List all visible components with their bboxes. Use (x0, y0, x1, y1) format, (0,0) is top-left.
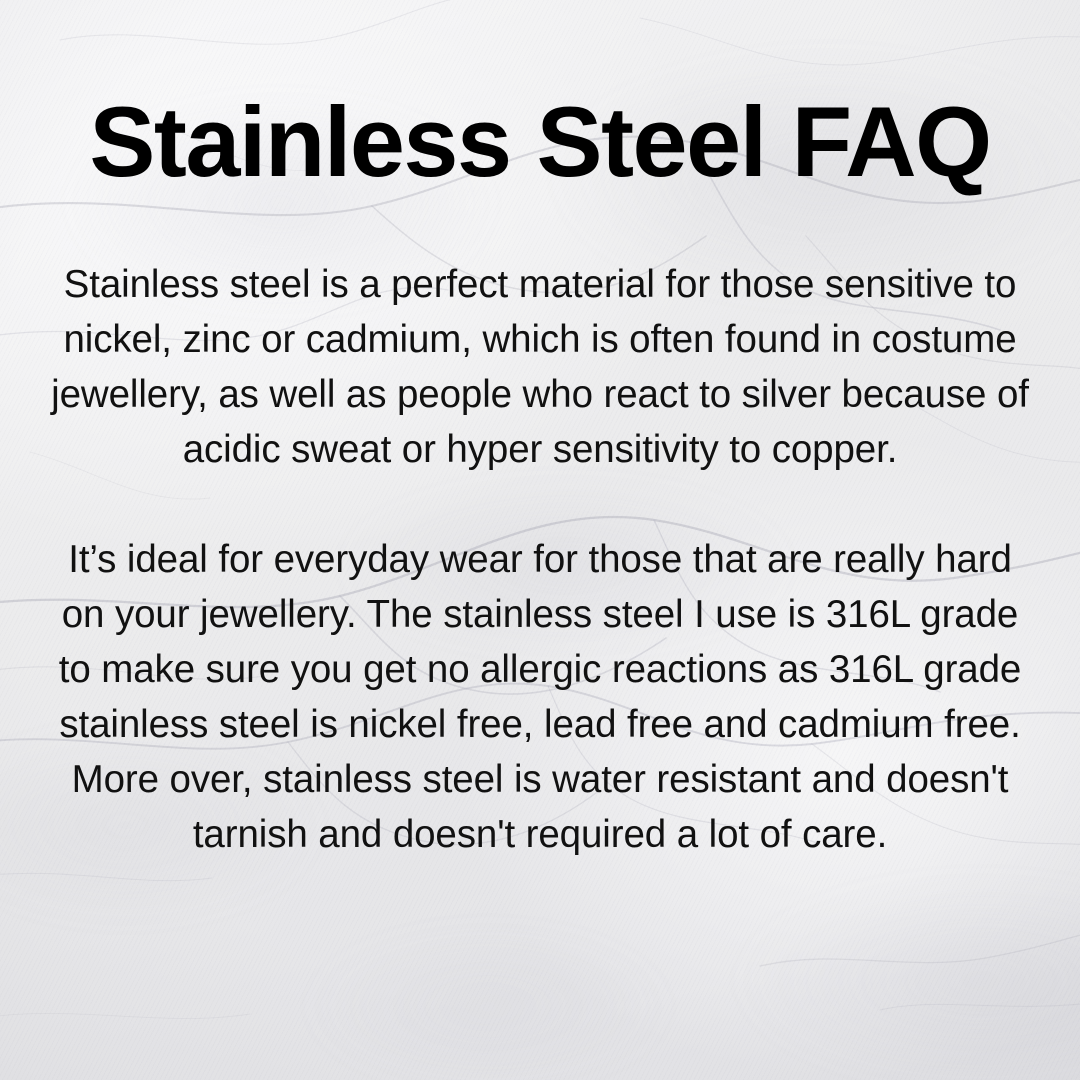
paragraph-details: It’s ideal for everyday wear for those t… (44, 532, 1036, 862)
content-container: Stainless Steel FAQ Stainless steel is a… (0, 0, 1080, 1080)
page-title: Stainless Steel FAQ (89, 92, 990, 191)
paragraph-intro: Stainless steel is a perfect material fo… (44, 257, 1036, 477)
faq-body: Stainless steel is a perfect material fo… (44, 257, 1036, 862)
faq-graphic-card: Stainless Steel FAQ Stainless steel is a… (0, 0, 1080, 1080)
